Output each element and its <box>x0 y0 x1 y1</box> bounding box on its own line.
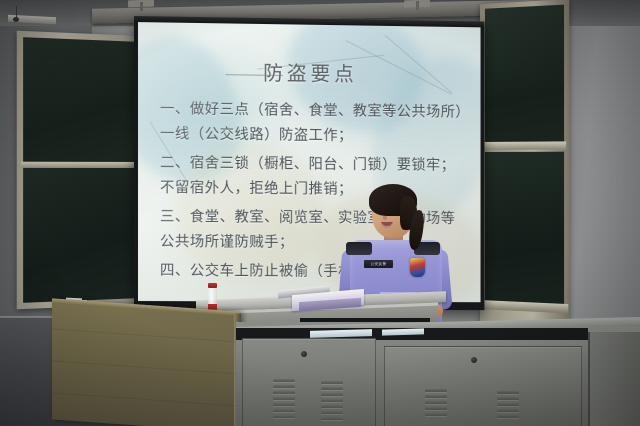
cabinet-lock-knob[interactable] <box>301 351 307 357</box>
blackboard-panel-upper <box>485 5 564 142</box>
bottle-cap <box>208 283 217 288</box>
blackboard-panel-lower <box>485 152 564 304</box>
chalk-ledge <box>483 141 566 150</box>
wooden-board <box>52 298 240 426</box>
cabinet-lock-knob[interactable] <box>471 357 477 363</box>
police-shield-badge-icon <box>410 258 425 277</box>
blackboard-panel-lower <box>23 168 136 303</box>
board-grain <box>52 392 240 406</box>
cabinet-door-2[interactable] <box>384 346 582 426</box>
classroom-photo: 防盗要点 一、做好三点（宿舍、食堂、教室等公共场所）一线（公交线路）防盗工作； … <box>0 0 640 426</box>
lamp-fixture-icon <box>13 17 19 22</box>
light-reflection <box>382 328 424 335</box>
slide-title: 防盗要点 <box>138 55 481 88</box>
epaulette-left <box>346 242 372 255</box>
name-tag-text: 公安民警 <box>364 260 393 268</box>
cabinet-door-1[interactable] <box>242 338 376 426</box>
blackboard-left <box>17 31 142 310</box>
board-grain <box>52 360 240 374</box>
metal-cabinet <box>236 322 640 426</box>
slide-line-1: 一、做好三点（宿舍、食堂、教室等公共场所）一线（公交线路）防盗工作； <box>160 97 467 150</box>
ceiling-hook <box>140 2 143 11</box>
board-grain <box>52 328 240 342</box>
ceiling-hook <box>416 1 419 10</box>
name-tag: 公安民警 <box>364 260 393 268</box>
blackboard-panel-upper <box>23 37 136 162</box>
cabinet-edge <box>588 332 590 426</box>
cabinet-side-panel <box>588 332 640 426</box>
blackboard-right <box>480 0 569 327</box>
